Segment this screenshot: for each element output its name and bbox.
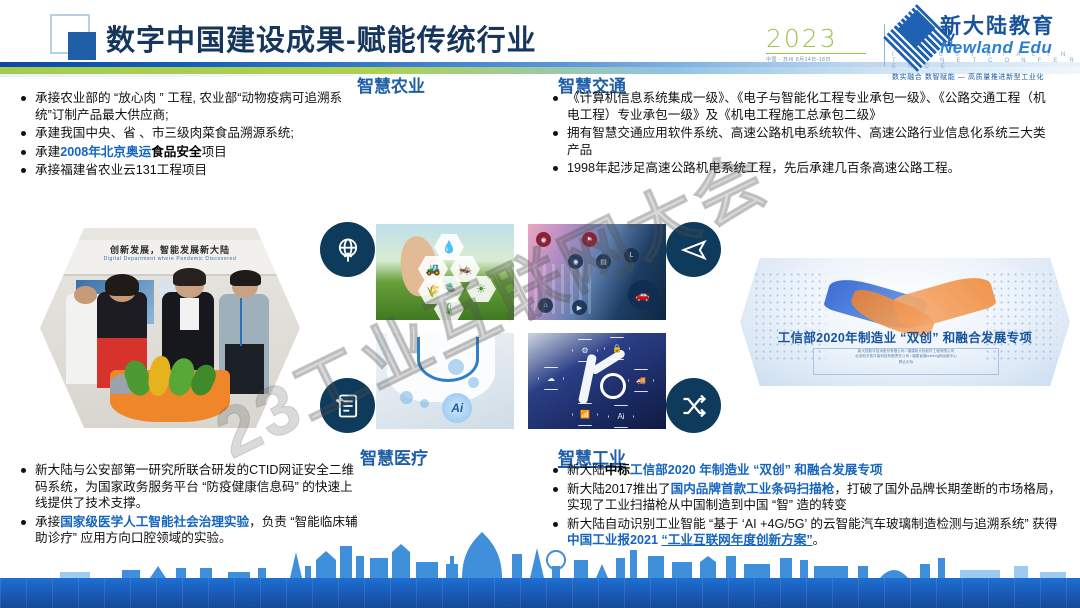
- newland-edu-cn: 新大陆教育: [940, 16, 1055, 38]
- smart-industry-photo: ⚙ 🔒 ☁ 🚚 📶 Ai: [528, 333, 666, 429]
- photo-grid: 💧 🚜 🦗 🛸 🌾 ☀ 🌡 ◉ ⚑ ◉ ▤ L ⌂ ▶ 🚗: [376, 224, 666, 429]
- bullet-run: 拥有智慧交通应用软件系统、高速公路机电系统软件、高速公路行业信息化系统三大类产品: [567, 126, 1046, 157]
- bullet-run: 新大陆: [567, 463, 605, 477]
- bullets-transport: 《计算机信息系统集成一级》、《电子与智能化工程专业承包一级》、《公路交通工程（机…: [552, 90, 1057, 179]
- bullet-item: 承建2008年北京奥运食品安全项目: [20, 144, 350, 161]
- bullet-run: 承接: [35, 515, 60, 529]
- bullet-item: 新大陆中标工信部2020 年制造业 “双创” 和融合发展专项: [552, 462, 1062, 479]
- bullet-run: “工业互联网年度创新方案”: [661, 533, 812, 547]
- square-solid-icon: [68, 32, 96, 60]
- bullet-run: 国内品牌首款工业条码扫描枪: [671, 482, 835, 496]
- send-paper-plane-icon: [666, 222, 721, 277]
- bullet-run: 承接农业部的 “放心肉 ” 工程, 农业部“动物疫病可追溯系统”订制产品最大供应…: [35, 91, 342, 122]
- banner-title: 工信部2020年制造业 “双创” 和融合发展专项: [740, 327, 1070, 346]
- bullets-agriculture: 承接农业部的 “放心肉 ” 工程, 农业部“动物疫病可追溯系统”订制产品最大供应…: [20, 90, 350, 181]
- leader-visit-photo: 创新发展，智能发展新大陆 Digital Department where Pa…: [40, 228, 300, 428]
- section-heading-medical: 智慧医疗: [360, 444, 428, 469]
- shuffle-icon: [666, 378, 721, 433]
- bullets-medical: 新大陆与公安部第一研究所联合研发的CTID网证安全二维码系统，为国家政务服务平台…: [20, 462, 360, 549]
- bullet-run: 2008年北京奥运: [60, 145, 151, 159]
- bullet-run: 食品安全: [151, 145, 201, 159]
- bullet-run: 新大陆2017推出了: [567, 482, 671, 496]
- bullet-item: 承建我国中央、省 、市三级肉菜食品溯源系统;: [20, 125, 350, 142]
- bullet-run: 《计算机信息系统集成一级》、《电子与智能化工程专业承包一级》、《公路交通工程（机…: [567, 91, 1046, 122]
- globe-upload-icon: [320, 222, 375, 277]
- conference-year-sub: 中国 · 苏州 8月14日-18日: [766, 56, 876, 63]
- bullet-run: 项目: [202, 145, 227, 159]
- page-title: 数字中国建设成果-赋能传统行业: [106, 17, 537, 59]
- bullet-run: 承接福建省农业云131工程项目: [35, 163, 207, 177]
- conference-year-logo: 2023 中国 · 苏州 8月14日-18日: [766, 26, 876, 66]
- banner-fineprint: 新大陆数字技术股份有限公司 / 福建新大陆软件工程有限公司 北京航天拓扑高科技有…: [813, 348, 1000, 376]
- bullet-item: 《计算机信息系统集成一级》、《电子与智能化工程专业承包一级》、《公路交通工程（机…: [552, 90, 1057, 123]
- bullets-industry: 新大陆中标工信部2020 年制造业 “双创” 和融合发展专项新大陆2017推出了…: [552, 462, 1062, 551]
- smart-medical-photo: Ai: [376, 333, 514, 429]
- bullet-run: 中标: [605, 463, 630, 477]
- bullet-item: 承接农业部的 “放心肉 ” 工程, 农业部“动物疫病可追溯系统”订制产品最大供应…: [20, 90, 350, 123]
- ministry-project-banner: 工信部2020年制造业 “双创” 和融合发展专项 新大陆数字技术股份有限公司 /…: [740, 258, 1070, 386]
- bullet-run: 新大陆与公安部第一研究所联合研发的CTID网证安全二维码系统，为国家政务服务平台…: [35, 463, 354, 510]
- bullet-run: 新大陆自动识别工业智能 “基于 ‘AI +4G/5G’ 的云智能汽车玻璃制造检测…: [567, 517, 1057, 531]
- industrial-internet-tag: 数实融合 数智赋能 — 高质量推进新型工业化: [892, 72, 1080, 82]
- bullet-run: 承建: [35, 145, 60, 159]
- newland-edu-logo: 新大陆教育 Newland Edu: [940, 16, 1055, 56]
- bullet-item: 承接国家级医学人工智能社会治理实验，负责 “智能临床辅助诊疗” 应用方向口腔领域…: [20, 514, 360, 547]
- bullet-item: 拥有智慧交通应用软件系统、高速公路机电系统软件、高速公路行业信息化系统三大类产品: [552, 125, 1057, 158]
- bullet-run: 。: [813, 533, 826, 547]
- bullet-item: 新大陆自动识别工业智能 “基于 ‘AI +4G/5G’ 的云智能汽车玻璃制造检测…: [552, 516, 1062, 549]
- conference-year: 2023: [766, 26, 876, 51]
- bullet-item: 1998年起涉足高速公路机电系统工程，先后承建几百条高速公路工程。: [552, 160, 1057, 177]
- smart-transport-photo: ◉ ⚑ ◉ ▤ L ⌂ ▶ 🚗: [528, 224, 666, 320]
- document-list-icon: [320, 378, 375, 433]
- logo-divider: [884, 24, 885, 66]
- bullet-run: 1998年起涉足高速公路机电系统工程，先后承建几百条高速公路工程。: [567, 161, 960, 175]
- bullet-item: 新大陆2017推出了国内品牌首款工业条码扫描枪，打破了国外品牌长期垄断的市场格局…: [552, 481, 1062, 514]
- banner-fineprint-line3: 联合中标: [814, 360, 999, 366]
- bullet-run: 国家级医学人工智能社会治理实验: [60, 515, 249, 529]
- bullet-run: 承建我国中央、省 、市三级肉菜食品溯源系统;: [35, 126, 294, 140]
- bullet-item: 承接福建省农业云131工程项目: [20, 162, 350, 179]
- footer-bar: [0, 578, 1080, 608]
- bullet-item: 新大陆与公安部第一研究所联合研发的CTID网证安全二维码系统，为国家政务服务平台…: [20, 462, 360, 512]
- photo-banner-line1: 创新发展，智能发展新大陆: [61, 243, 279, 256]
- smart-agriculture-photo: 💧 🚜 🦗 🛸 🌾 ☀ 🌡: [376, 224, 514, 320]
- slide-canvas: 23工业互联网大会 创新发展，智能发展新大陆 Digital Departmen…: [0, 0, 1080, 608]
- bullet-run: 工信部2020 年制造业 “双创” 和融合发展专项: [630, 463, 883, 477]
- bullet-run: 中国工业报2021: [567, 533, 661, 547]
- photo-banner-line2: Digital Department where Pandemic Discov…: [61, 256, 279, 262]
- newland-edu-en: Newland Edu: [940, 39, 1055, 56]
